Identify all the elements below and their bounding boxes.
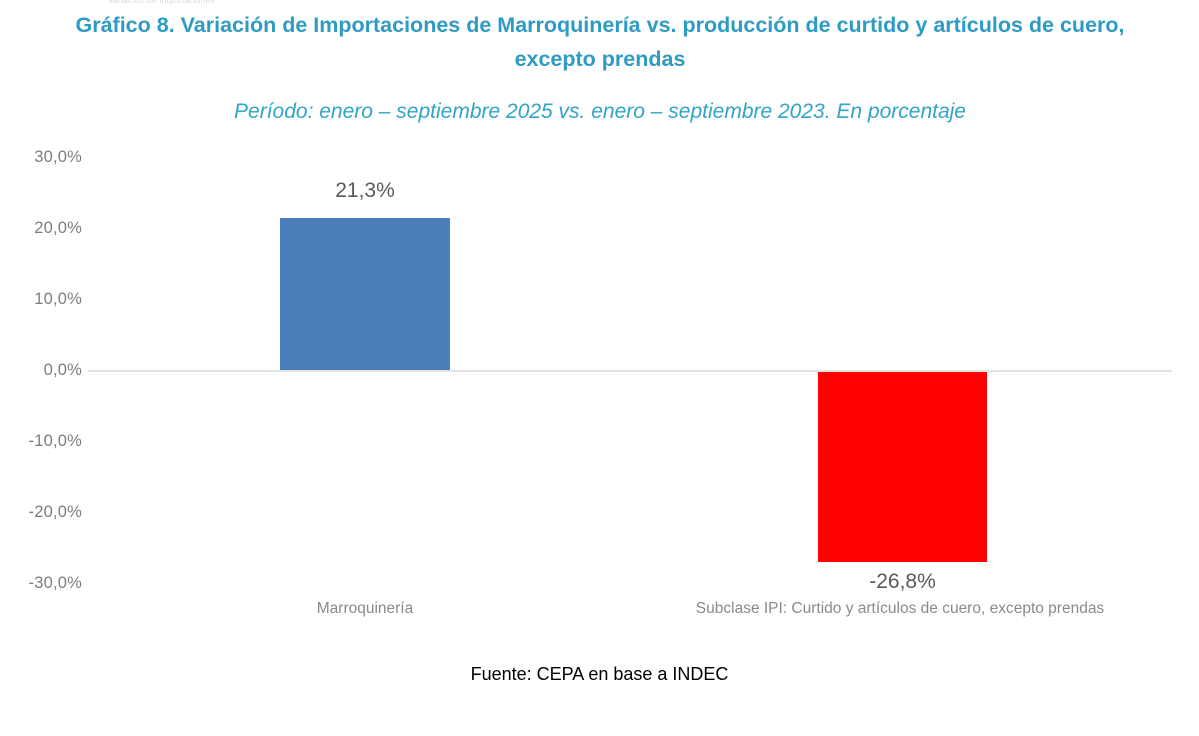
- data-label-marroquineria: 21,3%: [280, 179, 450, 203]
- y-axis-tick-0: 0,0%: [6, 361, 82, 380]
- y-axis-tick-10: 10,0%: [6, 290, 82, 309]
- y-axis-tick-30: 30,0%: [6, 148, 82, 167]
- y-axis-tick-neg10: -10,0%: [6, 432, 82, 451]
- bar-subclase-ipi[interactable]: [818, 372, 987, 562]
- y-axis-tick-neg30: -30,0%: [6, 574, 82, 593]
- y-axis-tick-20: 20,0%: [6, 219, 82, 238]
- x-axis-label-subclase-ipi: Subclase IPI: Curtido y artículos de cue…: [600, 600, 1199, 618]
- x-axis-label-marroquineria: Marroquinería: [215, 600, 515, 618]
- data-label-subclase-ipi: -26,8%: [818, 570, 987, 594]
- plot-area: 30,0% 20,0% 10,0% 0,0% -10,0% -20,0% -30…: [0, 0, 1199, 736]
- source-note: Fuente: CEPA en base a INDEC: [0, 664, 1199, 685]
- bar-marroquineria[interactable]: [280, 218, 450, 370]
- zero-axis-line: [88, 370, 1172, 372]
- y-axis-tick-neg20: -20,0%: [6, 503, 82, 522]
